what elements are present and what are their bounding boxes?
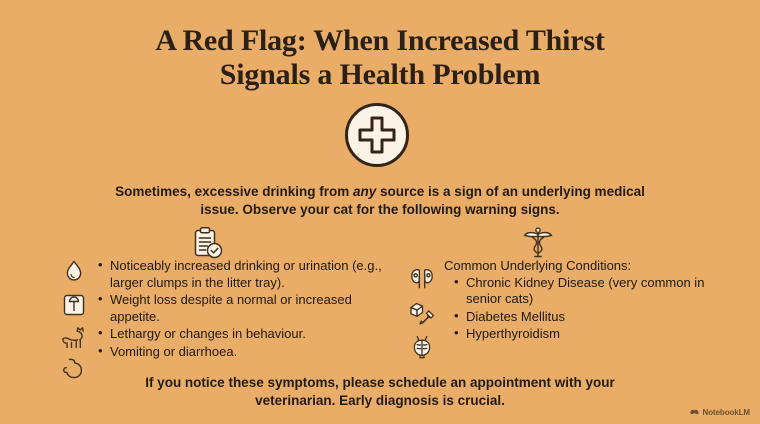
conditions-column: Common Underlying Conditions: Chronic Ki… — [408, 258, 728, 363]
notebooklm-watermark: NotebookLM — [690, 407, 750, 417]
infographic-slide: A Red Flag: When Increased Thirst Signal… — [0, 0, 760, 424]
list-item: Chronic Kidney Disease (very common in s… — [452, 275, 728, 308]
medical-cross-icon — [357, 115, 397, 155]
notebooklm-logo-icon — [690, 407, 700, 417]
list-item: Vomiting or diarrhoea. — [96, 344, 390, 361]
conditions-icon-rail — [408, 258, 444, 363]
notebooklm-label: NotebookLM — [703, 408, 750, 417]
page-title: A Red Flag: When Increased Thirst Signal… — [0, 24, 760, 92]
list-item: Hyperthyroidism — [452, 326, 728, 343]
title-line-2: Signals a Health Problem — [0, 58, 760, 92]
conditions-heading: Common Underlying Conditions: — [444, 258, 728, 275]
weight-scale-icon — [60, 292, 88, 318]
footer-line-1: If you notice these symptoms, please sch… — [145, 375, 582, 390]
cat-icon — [60, 325, 88, 351]
thyroid-gland-icon — [408, 334, 436, 360]
list-item: Diabetes Mellitus — [452, 309, 728, 326]
subtitle-part-1: Sometimes, excessive drinking from — [115, 184, 353, 199]
list-item: Noticeably increased drinking or urinati… — [96, 258, 390, 291]
list-item: Weight loss despite a normal or increase… — [96, 292, 390, 325]
clipboard-check-icon — [190, 226, 224, 260]
medical-cross-badge — [345, 103, 409, 167]
subtitle: Sometimes, excessive drinking from any s… — [110, 183, 650, 219]
conditions-list: Common Underlying Conditions: Chronic Ki… — [444, 258, 728, 344]
list-item: Lethargy or changes in behaviour. — [96, 326, 390, 343]
caduceus-icon — [521, 226, 555, 260]
sugar-cube-syringe-icon — [408, 300, 436, 326]
subtitle-emphasis: any — [353, 184, 376, 199]
symptoms-column: Noticeably increased drinking or urinati… — [60, 258, 390, 385]
title-line-1: A Red Flag: When Increased Thirst — [155, 24, 604, 57]
footer-callout: If you notice these symptoms, please sch… — [110, 374, 650, 410]
kidneys-icon — [408, 266, 436, 292]
water-droplet-icon — [60, 259, 88, 285]
symptoms-list: Noticeably increased drinking or urinati… — [96, 258, 390, 361]
stomach-icon — [60, 356, 88, 382]
symptoms-icon-rail — [60, 258, 96, 385]
